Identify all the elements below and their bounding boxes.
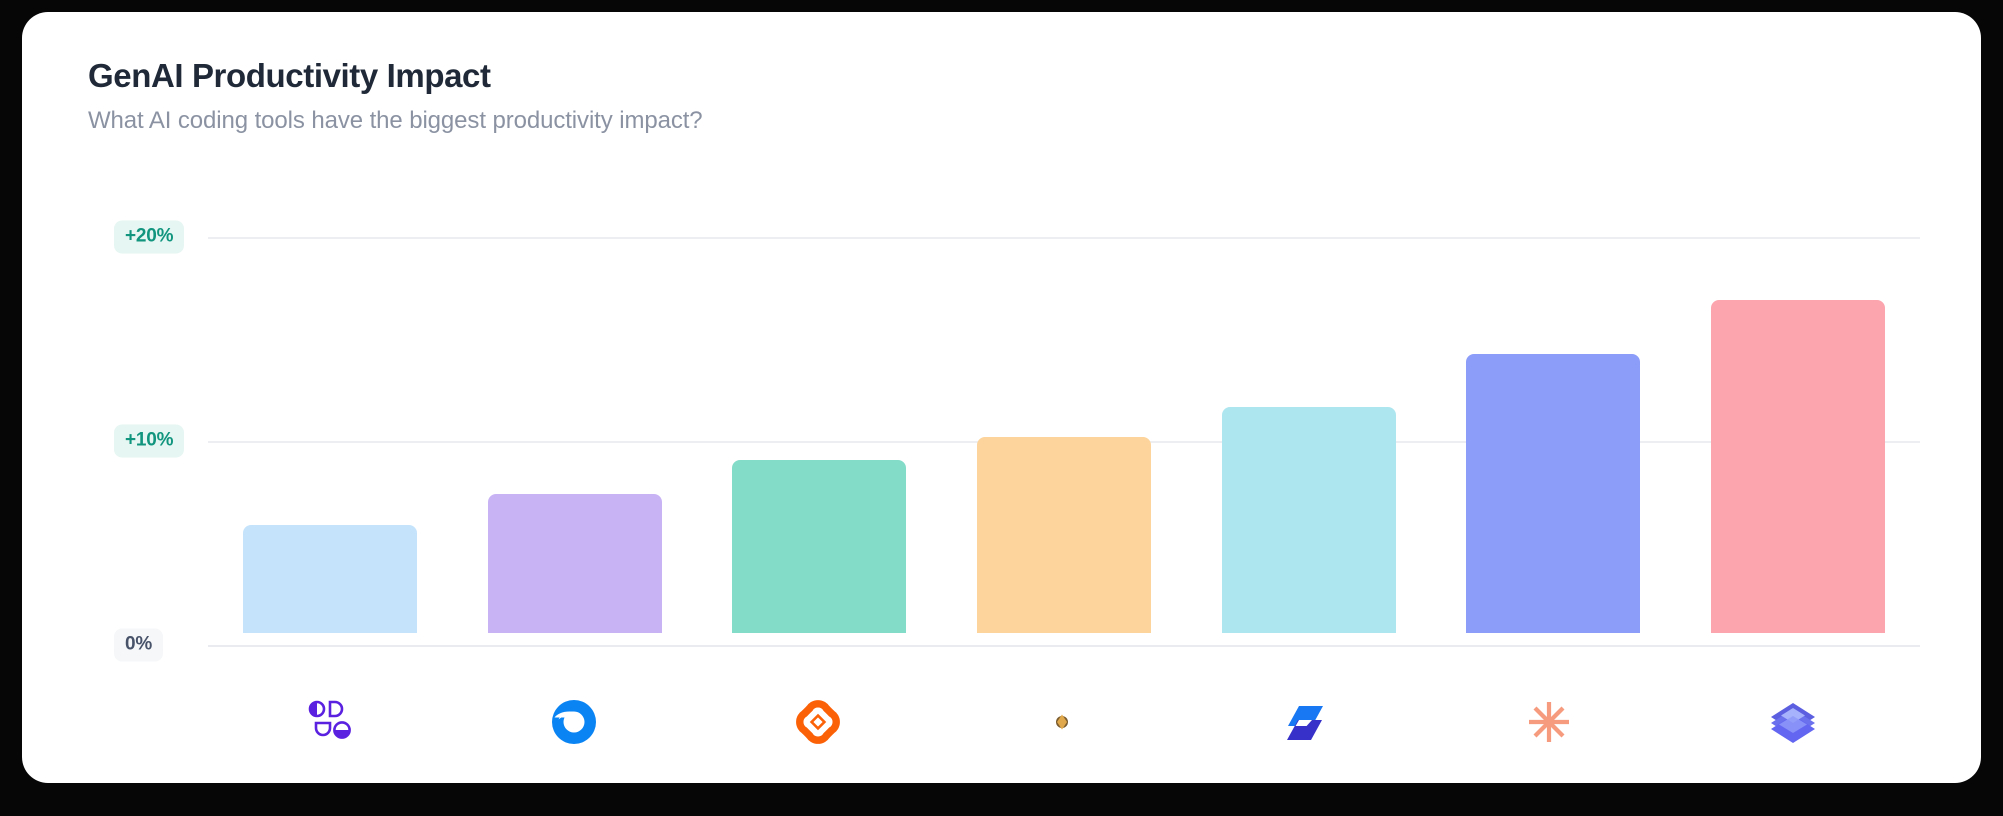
page-title: GenAI Productivity Impact — [88, 56, 703, 96]
category-icon-slot[interactable] — [1671, 696, 1915, 748]
category-icon-slot[interactable] — [452, 696, 696, 748]
bar[interactable] — [1222, 407, 1396, 633]
bars-container — [208, 204, 1920, 647]
category-icon-slot[interactable] — [1427, 696, 1671, 748]
bar-slot — [453, 204, 698, 647]
bar-slot — [942, 204, 1187, 647]
bar-chart: +20%+10%0% — [88, 204, 1920, 659]
category-icon-slot[interactable] — [696, 696, 940, 748]
asterisk-burst-icon — [1523, 696, 1575, 748]
y-axis-tick-label: +10% — [114, 425, 184, 458]
circle-star-icon — [1036, 696, 1088, 748]
grid-quadrant-icon — [304, 696, 356, 748]
bar[interactable] — [243, 525, 417, 633]
page-subtitle: What AI coding tools have the biggest pr… — [88, 106, 703, 136]
category-icon-slot[interactable] — [208, 696, 452, 748]
bar-slot — [1186, 204, 1431, 647]
bar[interactable] — [732, 460, 906, 633]
y-axis-tick-label: 0% — [114, 629, 163, 662]
clover-icon — [792, 696, 844, 748]
bar[interactable] — [488, 494, 662, 633]
parallelogram-pair-icon — [1279, 696, 1331, 748]
bar[interactable] — [977, 437, 1151, 633]
category-icon-slot[interactable] — [940, 696, 1184, 748]
ring-notch-icon — [548, 696, 600, 748]
bar[interactable] — [1711, 300, 1885, 633]
y-axis-tick-label: +20% — [114, 221, 184, 254]
bar-slot — [1675, 204, 1920, 647]
chart-card: GenAI Productivity Impact What AI coding… — [22, 12, 1981, 783]
bar-slot — [697, 204, 942, 647]
card-header: GenAI Productivity Impact What AI coding… — [88, 56, 703, 136]
category-icon-slot[interactable] — [1183, 696, 1427, 748]
screen: GenAI Productivity Impact What AI coding… — [0, 0, 2003, 816]
category-icon-row — [208, 676, 1915, 768]
bar-slot — [1431, 204, 1676, 647]
stacked-layers-icon — [1767, 696, 1819, 748]
bar-slot — [208, 204, 453, 647]
bar[interactable] — [1466, 354, 1640, 633]
